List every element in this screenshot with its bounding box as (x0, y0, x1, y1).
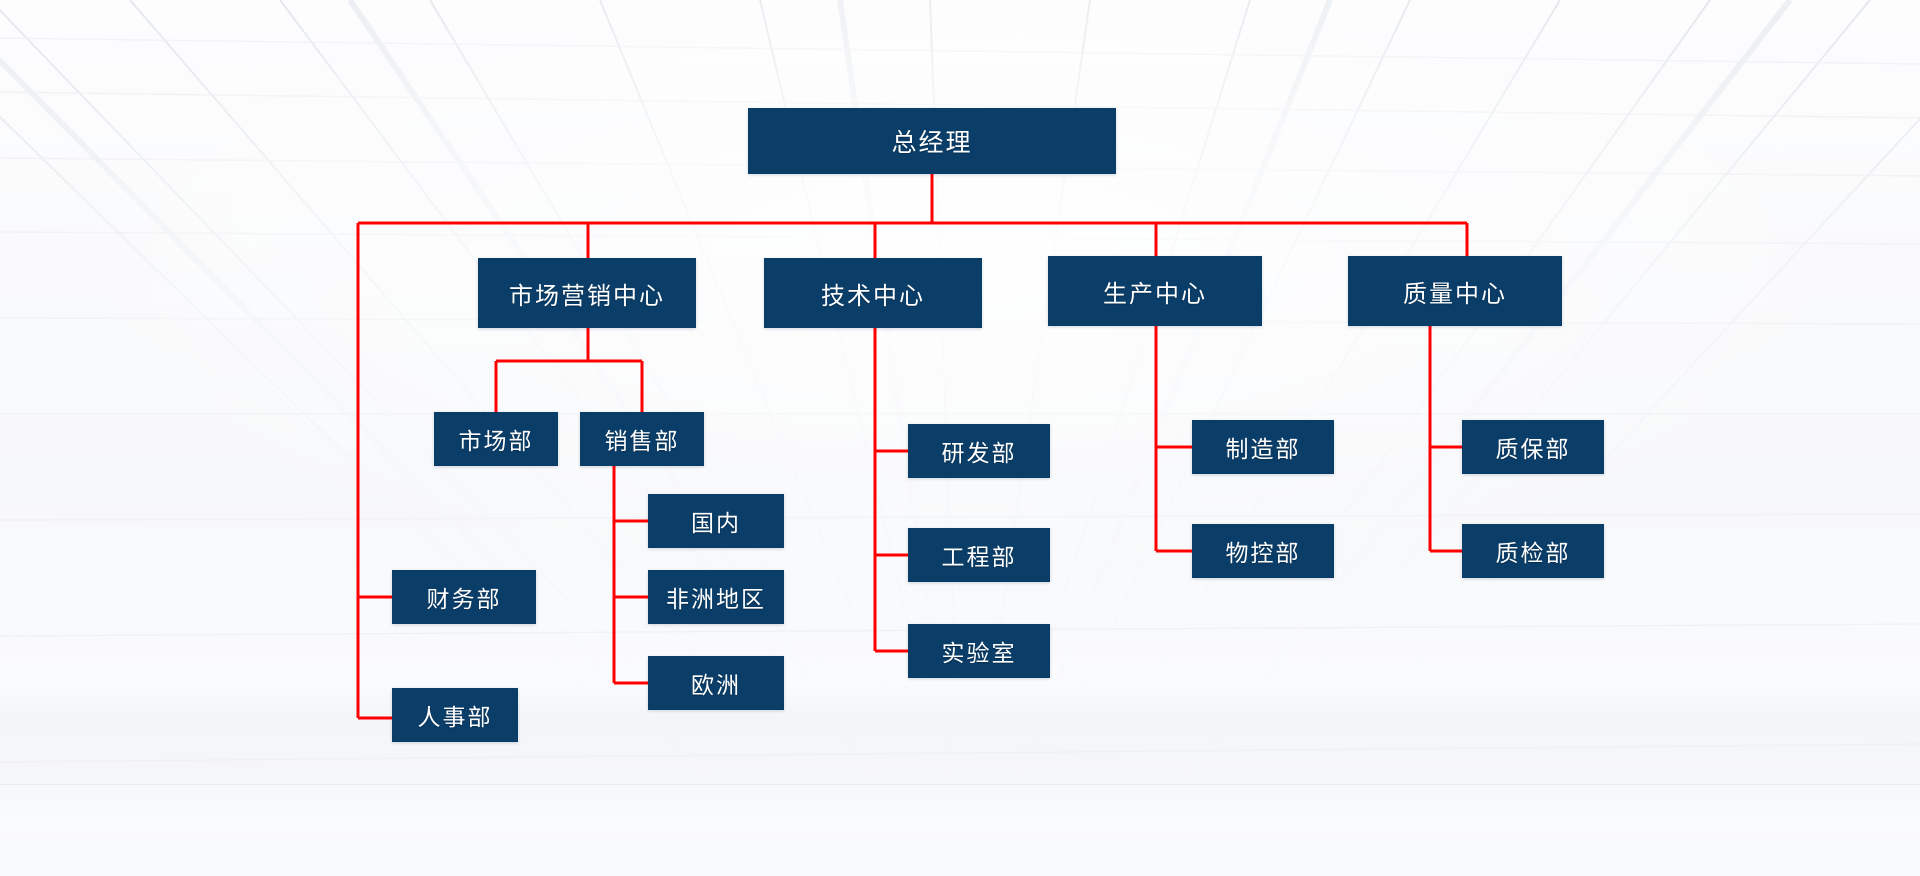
org-node-label: 人事部 (418, 698, 493, 732)
org-node-hr[interactable]: 人事部 (392, 688, 518, 742)
org-node-label: 欧洲 (691, 666, 741, 700)
org-node-gm[interactable]: 总经理 (748, 108, 1116, 174)
org-node-africa[interactable]: 非洲地区 (648, 570, 784, 624)
org-node-label: 非洲地区 (666, 580, 766, 614)
org-node-europe[interactable]: 欧洲 (648, 656, 784, 710)
org-node-qual_ctr[interactable]: 质量中心 (1348, 256, 1562, 326)
org-chart-canvas: 总经理市场营销中心技术中心生产中心质量中心市场部销售部国内非洲地区欧洲财务部人事… (0, 0, 1920, 876)
org-node-label: 实验室 (942, 634, 1017, 668)
org-node-qa[interactable]: 质保部 (1462, 420, 1604, 474)
org-node-lab[interactable]: 实验室 (908, 624, 1050, 678)
org-node-label: 工程部 (942, 538, 1017, 572)
org-node-label: 质保部 (1496, 430, 1571, 464)
org-node-label: 销售部 (605, 422, 680, 456)
org-node-label: 市场营销中心 (509, 276, 665, 311)
org-node-eng[interactable]: 工程部 (908, 528, 1050, 582)
org-node-label: 财务部 (427, 580, 502, 614)
org-node-mkt_ctr[interactable]: 市场营销中心 (478, 258, 696, 328)
org-node-mkt_dept[interactable]: 市场部 (434, 412, 558, 466)
org-node-label: 质量中心 (1403, 274, 1507, 309)
org-node-label: 制造部 (1226, 430, 1301, 464)
org-node-label: 质检部 (1496, 534, 1571, 568)
org-node-manufact[interactable]: 制造部 (1192, 420, 1334, 474)
org-node-label: 国内 (691, 504, 741, 538)
org-node-label: 市场部 (459, 422, 534, 456)
org-node-sales_dept[interactable]: 销售部 (580, 412, 704, 466)
org-node-label: 物控部 (1226, 534, 1301, 568)
org-node-prod_ctr[interactable]: 生产中心 (1048, 256, 1262, 326)
org-node-label: 总经理 (891, 123, 972, 159)
org-node-rnd[interactable]: 研发部 (908, 424, 1050, 478)
org-node-matctrl[interactable]: 物控部 (1192, 524, 1334, 578)
org-node-label: 生产中心 (1103, 274, 1207, 309)
org-node-label: 技术中心 (821, 276, 925, 311)
org-node-domestic[interactable]: 国内 (648, 494, 784, 548)
org-node-tech_ctr[interactable]: 技术中心 (764, 258, 982, 328)
org-node-label: 研发部 (942, 434, 1017, 468)
org-node-qc[interactable]: 质检部 (1462, 524, 1604, 578)
org-node-finance[interactable]: 财务部 (392, 570, 536, 624)
